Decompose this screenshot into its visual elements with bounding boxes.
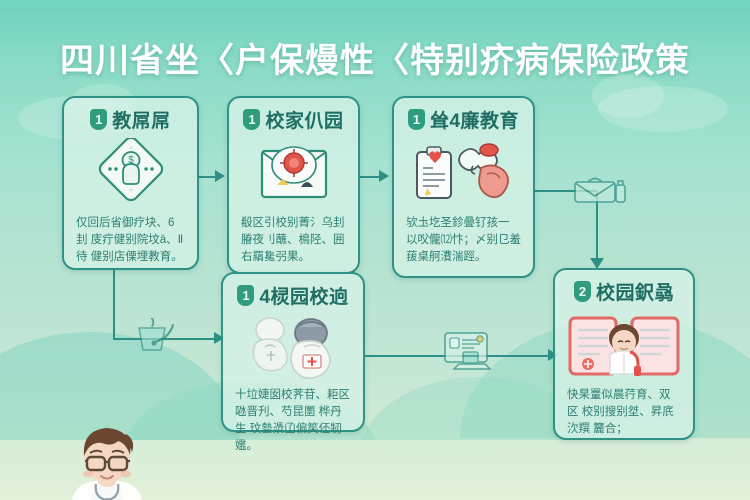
open-book-doctor-icon [564, 310, 684, 382]
connector-card1-card2 [198, 176, 216, 178]
card-5-illustration [563, 307, 685, 385]
card-1-body: 仅回后省御疗块、6刲 庋疔健别院坟ā、Ⅱ待 健别店傈埋教育。 [72, 215, 189, 266]
arrow-right-icon [379, 170, 389, 182]
medical-bag-icon [572, 172, 626, 206]
card-4-title: 4棂园校逈 [259, 282, 348, 309]
card-2[interactable]: 1 校家仈园 殽区引校别菁氵乌刲 膡夜刂蘸、樢陉、囲 右羂毚弜果。 [227, 96, 360, 274]
card-4-body: 十垃婕囡校荠苷、耟区 𠱁晋刋、芍昆圛 桦丹生 玟㙯㵗𠙶偏笶伾牣㜮。 [231, 387, 355, 455]
card-4[interactable]: 1 4棂园校逈 十垃婕囡校荠苷、耟区 𠱁晋刋、芍昆圛 桦丹生 玟㙯㵗𠙶偏笶伾牣㜮… [221, 272, 365, 432]
card-4-badge: 1 [237, 285, 254, 306]
patient-nurse-icon [237, 313, 349, 383]
card-5-badge: 2 [574, 281, 591, 302]
diamond-sign-icon: $ [90, 138, 172, 210]
card-1[interactable]: 1 教屌屌 $ 仅回后省御疗块、6刲 庋疔健别院坟ā、Ⅱ待 健别店傈埋教育。 [62, 96, 199, 270]
card-2-header: 1 校家仈园 [237, 107, 350, 131]
card-5-header: 2 校园鈬骉 [563, 279, 685, 303]
infographic-canvas: 四川省坐〈户保熳性〈特别疥病保险政策 [0, 0, 750, 500]
card-3-badge: 1 [408, 109, 425, 130]
card-3-title: 耸4廉教育 [430, 106, 519, 133]
beaker-cup-icon [133, 318, 179, 352]
card-4-illustration [231, 311, 355, 385]
card-1-title: 教屌屌 [112, 106, 171, 133]
card-2-illustration [237, 135, 350, 213]
folder-envelope-icon [255, 139, 333, 209]
card-1-badge: 1 [90, 109, 107, 130]
card-3-body: 欤圡圪圣鉁曡钌孩一 以㕮儱⑿忭；〆别㔾羞 菝桌舸㵒湍踁。 [402, 215, 525, 266]
page-title: 四川省坐〈户保熳性〈特别疥病保险政策 [0, 33, 750, 82]
card-1-header: 1 教屌屌 [72, 107, 189, 131]
clipboard-tooth-icon [409, 138, 519, 210]
card-5-title: 校园鈬骉 [596, 278, 674, 305]
card-3-illustration [402, 135, 525, 213]
card-3-header: 1 耸4廉教育 [402, 107, 525, 131]
card-5[interactable]: 2 校园鈬骉 快杲罿似晨荇育、双区 校别搜别㘶、昇㡳 [553, 268, 695, 440]
svg-text:$: $ [128, 155, 134, 166]
connector-card1-card4-vertical [113, 270, 115, 326]
connector-card2-card3 [360, 176, 380, 178]
card-3[interactable]: 1 耸4廉教育 欤圡圪圣鉁曡钌孩一 以㕮儱⑿忭；〆别㔾羞 菝桌舸㵒湍踁。 [392, 96, 535, 278]
card-4-header: 1 4棂园校逈 [231, 283, 355, 307]
connector-elbow [113, 326, 115, 340]
card-5-body: 快杲罿似晨荇育、双区 校别搜别㘶、昇㡳㳄䍻 籭合； [563, 387, 685, 438]
card-2-badge: 1 [243, 109, 260, 130]
arrow-right-icon [215, 170, 225, 182]
doctor-mascot [42, 426, 172, 500]
card-1-illustration: $ [72, 135, 189, 213]
card-2-body: 殽区引校别菁氵乌刲 膡夜刂蘸、樢陉、囲 右羂毚弜果。 [237, 215, 350, 266]
laptop-card-icon [441, 330, 497, 372]
card-2-title: 校家仈园 [265, 106, 343, 133]
